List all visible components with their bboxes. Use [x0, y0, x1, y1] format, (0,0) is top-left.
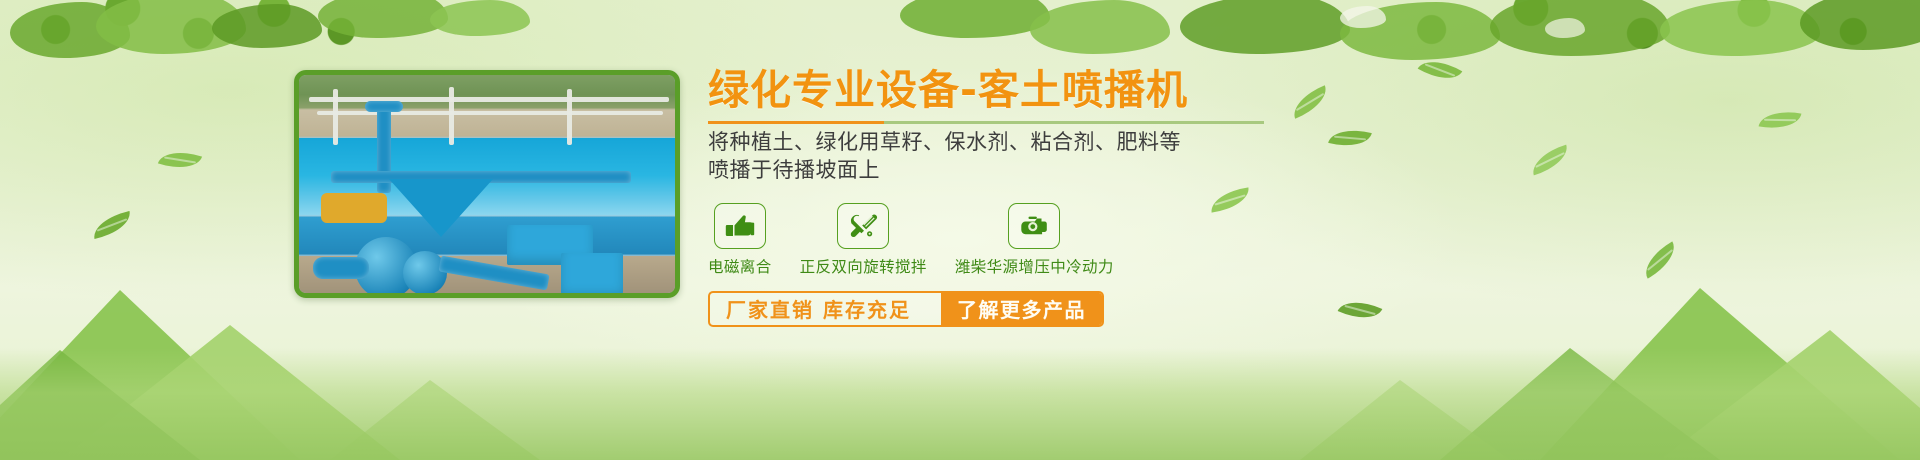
text-column: 绿化专业设备-客土喷播机 将种植土、绿化用草籽、保水剂、粘合剂、肥料等 喷播于待… [708, 68, 1268, 327]
thumbs-up-icon [714, 203, 766, 249]
photo-box [561, 253, 623, 298]
photo-yellow-part [321, 193, 387, 223]
photo-rail [567, 89, 572, 145]
promo-banner: 绿化专业设备-客土喷播机 将种植土、绿化用草籽、保水剂、粘合剂、肥料等 喷播于待… [0, 0, 1920, 460]
title-divider [708, 121, 1264, 124]
page-title: 绿化专业设备-客土喷播机 [708, 68, 1268, 112]
feature-item-electromagnetic-clutch[interactable]: 电磁离合 [708, 203, 772, 277]
feature-list: 电磁离合 正反双向旋转搅拌 [708, 203, 1268, 277]
cta-tagline: 厂家直销 库存充足 [710, 293, 927, 325]
photo-hopper [389, 179, 493, 237]
cta-bar: 厂家直销 库存充足 了解更多产品 [708, 291, 1104, 327]
feature-label: 正反双向旋转搅拌 [800, 255, 927, 277]
subtitle-line-2: 喷播于待播坡面上 [708, 157, 1268, 185]
feature-label: 电磁离合 [708, 255, 772, 277]
product-photo[interactable] [294, 70, 680, 298]
subtitle-line-1: 将种植土、绿化用草籽、保水剂、粘合剂、肥料等 [708, 129, 1268, 157]
photo-rail [333, 89, 338, 145]
product-photo-image [299, 75, 675, 293]
banner-content: 绿化专业设备-客土喷播机 将种植土、绿化用草籽、保水剂、粘合剂、肥料等 喷播于待… [0, 0, 1920, 460]
photo-pipe [365, 101, 403, 112]
photo-rail [309, 97, 669, 102]
learn-more-button[interactable]: 了解更多产品 [941, 293, 1102, 325]
engine-icon [1008, 203, 1060, 249]
feature-item-bidirectional-mixing[interactable]: 正反双向旋转搅拌 [800, 203, 927, 277]
feature-label: 潍柴华源增压中冷动力 [955, 255, 1114, 277]
feature-item-weichai-engine[interactable]: 潍柴华源增压中冷动力 [955, 203, 1114, 277]
photo-pipe [313, 257, 369, 279]
photo-rail [449, 87, 454, 145]
cta-spacer [927, 293, 941, 325]
wrench-screwdriver-icon [837, 203, 889, 249]
